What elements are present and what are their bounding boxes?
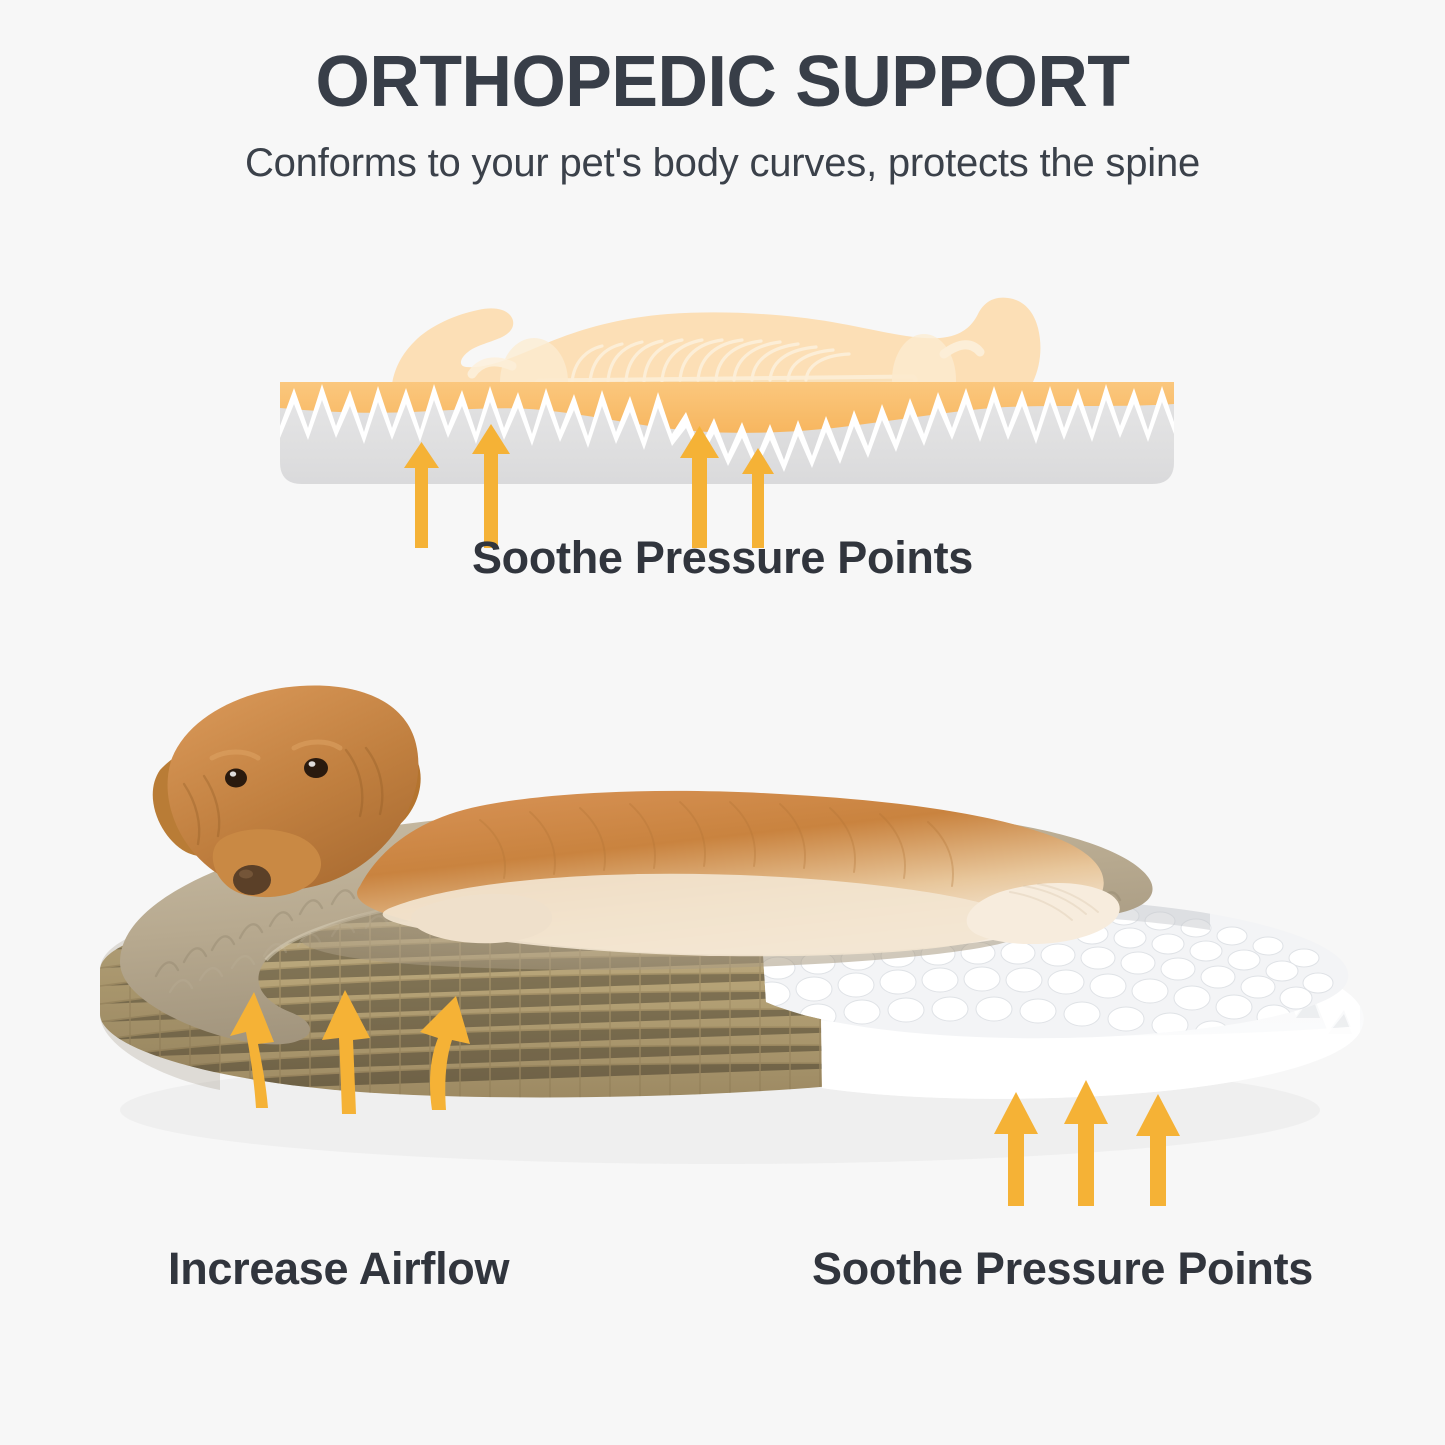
product-photo — [60, 640, 1390, 1260]
foam-block — [280, 370, 1174, 494]
page-subtitle: Conforms to your pet's body curves, prot… — [0, 141, 1445, 185]
caption-soothe-pressure-points: Soothe Pressure Points — [812, 1243, 1313, 1295]
infographic-canvas: ORTHOPEDIC SUPPORT Conforms to your pet'… — [0, 0, 1445, 1445]
diagram-caption: Soothe Pressure Points — [0, 532, 1445, 584]
header-block: ORTHOPEDIC SUPPORT Conforms to your pet'… — [0, 46, 1445, 185]
caption-increase-airflow: Increase Airflow — [168, 1243, 509, 1295]
bottom-captions: Increase Airflow Soothe Pressure Points — [0, 1243, 1445, 1303]
dog-bed — [100, 685, 1364, 1206]
page-title: ORTHOPEDIC SUPPORT — [22, 46, 1424, 119]
